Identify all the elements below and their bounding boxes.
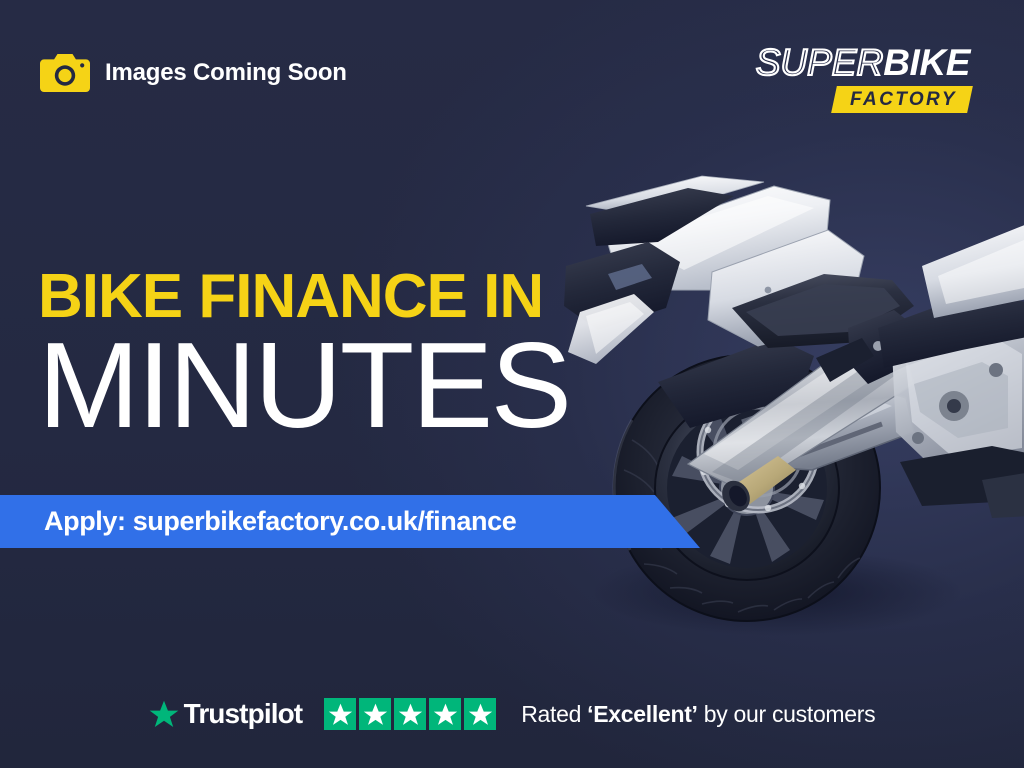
superbike-factory-logo[interactable]: SUPERBIKE FACTORY (756, 44, 970, 113)
star-box-1 (324, 698, 356, 730)
images-coming-soon-badge: Images Coming Soon (40, 54, 347, 92)
logo-factory-plate: FACTORY (831, 86, 973, 113)
fuel-tank-side (922, 222, 1024, 318)
trustpilot-rating-caption: Rated ‘Excellent’ by our customers (521, 703, 875, 726)
motorcycle-hero-image (562, 170, 1024, 650)
trustpilot-logo[interactable]: Trustpilot (149, 700, 303, 729)
trustpilot-wordmark: Trustpilot (184, 700, 303, 728)
tail-bracket (564, 242, 680, 364)
camera-icon (40, 54, 90, 92)
subframe-rearset (816, 310, 912, 384)
images-coming-soon-label: Images Coming Soon (105, 61, 347, 85)
drive-chain (742, 376, 882, 470)
apply-url-banner[interactable]: Apply: superbikefactory.co.uk/finance (0, 495, 700, 548)
logo-word-super: SUPER (756, 42, 883, 83)
tail-fairing (586, 176, 864, 346)
logo-word-bike: BIKE (883, 42, 970, 83)
logo-word-factory: FACTORY (847, 90, 957, 109)
rear-wheel (614, 355, 880, 621)
logo-top-row: SUPERBIKE (756, 44, 970, 81)
engine-frame-cluster (878, 290, 1024, 518)
star-box-5 (464, 698, 496, 730)
star-box-4 (429, 698, 461, 730)
rating-suffix: by our customers (698, 701, 876, 727)
trustpilot-star-rating (324, 698, 496, 730)
swingarm (732, 384, 914, 470)
headline-line-2: MINUTES (38, 324, 570, 446)
trustpilot-star-icon (149, 700, 179, 729)
rating-word: ‘Excellent’ (587, 701, 697, 727)
promo-banner-canvas: Images Coming Soon SUPERBIKE FACTORY BIK… (0, 0, 1024, 768)
rear-brake-disc (700, 391, 817, 511)
trustpilot-rating-bar: Trustpilot Rated ‘Excellent’ by our cust… (0, 698, 1024, 730)
apply-url-text: Apply: superbikefactory.co.uk/finance (0, 508, 516, 535)
star-box-3 (394, 698, 426, 730)
hero-headline: BIKE FINANCE IN MINUTES (38, 265, 570, 446)
rating-prefix: Rated (521, 701, 587, 727)
rear-hugger (658, 338, 814, 428)
exhaust-silencer (688, 336, 914, 516)
rider-seat (732, 274, 914, 348)
star-box-2 (359, 698, 391, 730)
